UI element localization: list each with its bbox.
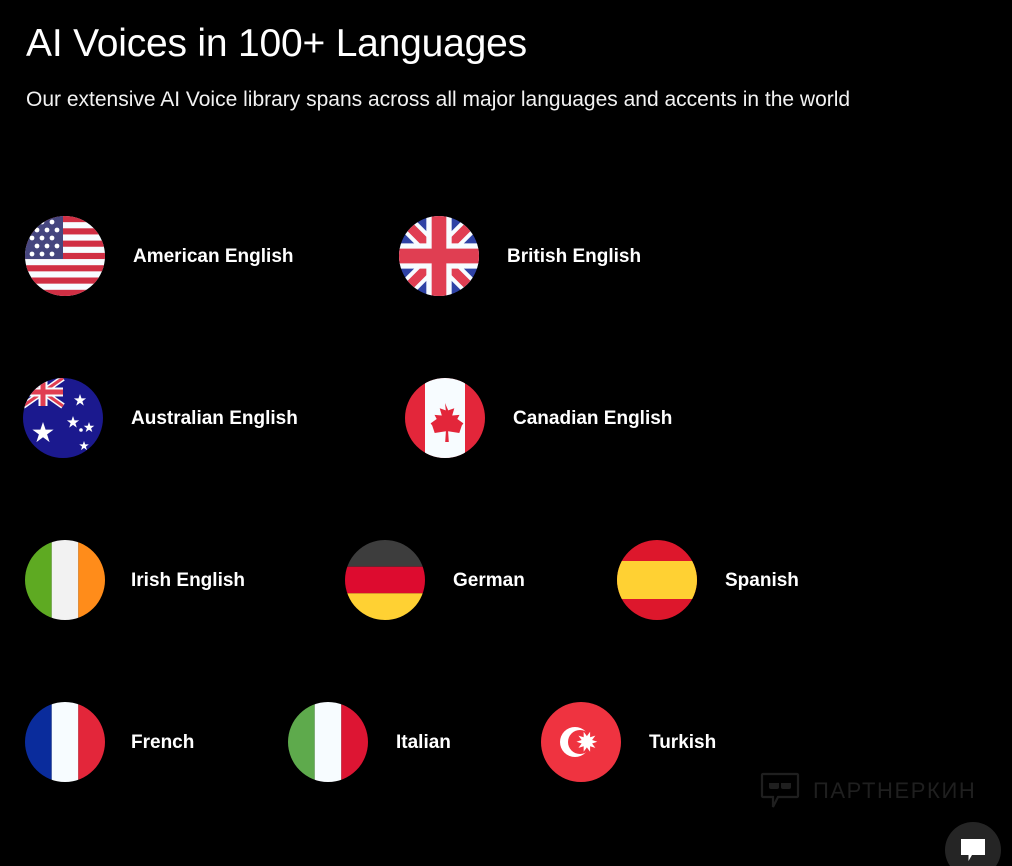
language-item-british-english[interactable]: British English	[399, 208, 641, 304]
chat-bubble-icon	[960, 838, 986, 862]
language-item-american-english[interactable]: American English	[25, 208, 294, 304]
language-label: German	[453, 571, 525, 590]
gb-flag-icon	[399, 216, 479, 296]
language-item-french[interactable]: French	[25, 694, 194, 790]
page-subtitle: Our extensive AI Voice library spans acr…	[26, 84, 956, 116]
de-flag-icon	[345, 540, 425, 620]
language-item-irish-english[interactable]: Irish English	[25, 532, 245, 628]
language-item-spanish[interactable]: Spanish	[617, 532, 799, 628]
language-item-italian[interactable]: Italian	[288, 694, 451, 790]
tr-flag-icon	[541, 702, 621, 782]
language-item-australian-english[interactable]: Australian English	[23, 370, 298, 466]
language-label: American English	[133, 247, 294, 266]
language-row-3: Irish English German Spanish	[0, 532, 1012, 628]
au-flag-icon	[23, 378, 103, 458]
language-label: French	[131, 733, 194, 752]
it-flag-icon	[288, 702, 368, 782]
es-flag-icon	[617, 540, 697, 620]
language-row-4: French Italian Turkish	[0, 694, 1012, 790]
language-label: Canadian English	[513, 409, 672, 428]
language-item-canadian-english[interactable]: Canadian English	[405, 370, 672, 466]
language-label: Spanish	[725, 571, 799, 590]
language-item-turkish[interactable]: Turkish	[541, 694, 716, 790]
chat-widget-button[interactable]	[945, 822, 1001, 866]
ca-flag-icon	[405, 378, 485, 458]
language-label: British English	[507, 247, 641, 266]
ie-flag-icon	[25, 540, 105, 620]
language-label: Irish English	[131, 571, 245, 590]
page-title: AI Voices in 100+ Languages	[26, 24, 527, 65]
page-root: AI Voices in 100+ Languages Our extensiv…	[0, 0, 1012, 866]
language-row-1: American English British English	[0, 208, 1012, 304]
fr-flag-icon	[25, 702, 105, 782]
us-flag-icon	[25, 216, 105, 296]
language-label: Turkish	[649, 733, 716, 752]
language-item-german[interactable]: German	[345, 532, 525, 628]
language-label: Australian English	[131, 409, 298, 428]
language-row-2: Australian English Canadian English	[0, 370, 1012, 466]
language-label: Italian	[396, 733, 451, 752]
